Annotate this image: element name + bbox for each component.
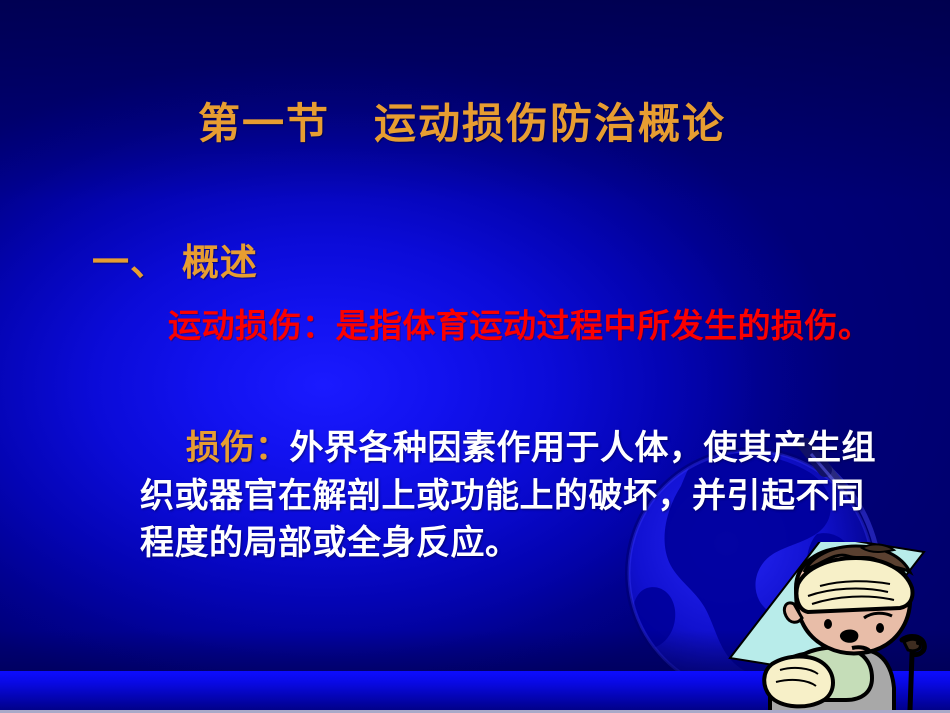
page-title: 第一节 运动损伤防治概论 [198,90,726,151]
definition-keyword: 损伤： [186,428,290,468]
section-heading: 一、 概述 [92,232,258,286]
slide-text-layer: 第一节 运动损伤防治概论 一、 概述 运动损伤：是指体育运动过程中所发生的损伤。… [0,0,950,713]
definition-paragraph-injury: 损伤：外界各种因素作用于人体，使其产生组织或器官在解剖上或功能上的破坏，并引起不… [140,425,880,568]
bottom-accent-band [0,671,950,713]
definition-paragraph-sports-injury: 运动损伤：是指体育运动过程中所发生的损伤。 [120,304,880,348]
presentation-slide: 第一节 运动损伤防治概论 一、 概述 运动损伤：是指体育运动过程中所发生的损伤。… [0,0,950,713]
